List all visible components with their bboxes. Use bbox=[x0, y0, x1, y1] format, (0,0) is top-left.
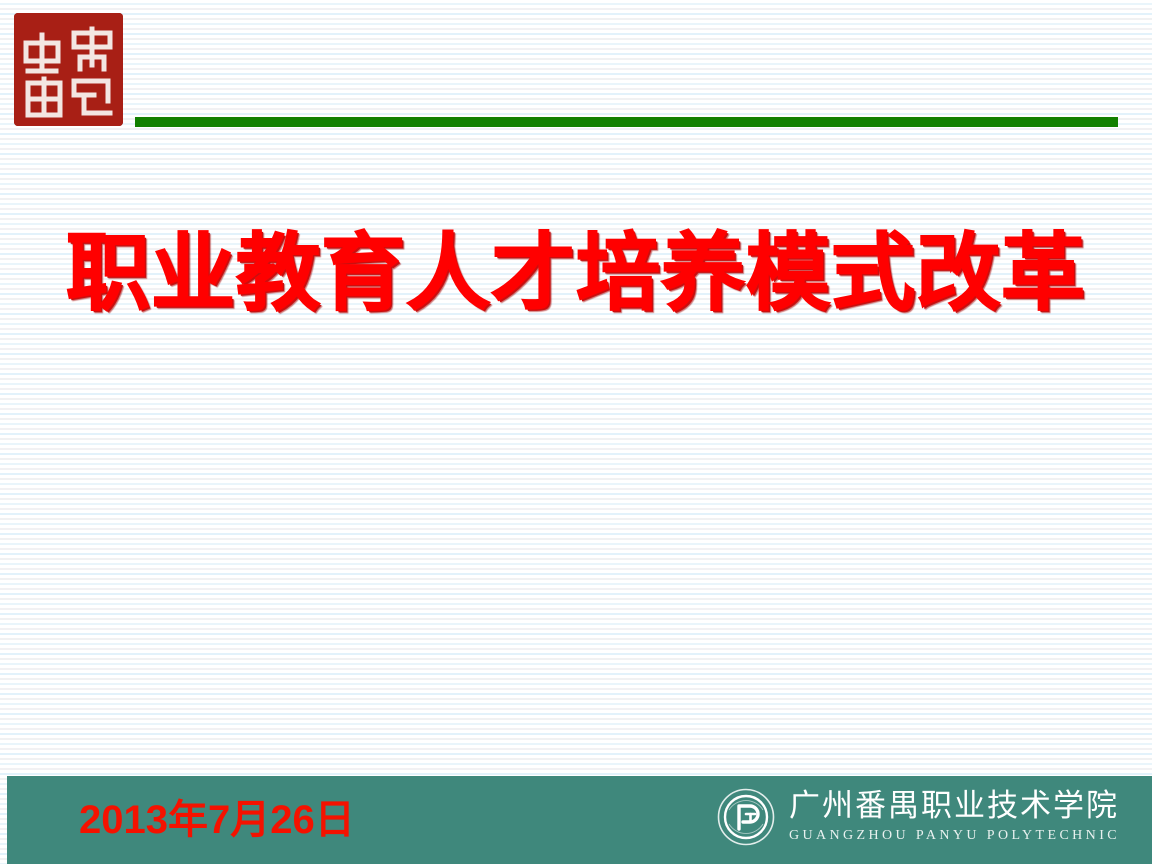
green-divider-rule bbox=[135, 117, 1118, 127]
footer-bar: 2013年7月26日 广州番禺职业技术学院 GUANGZHOU PANYU bbox=[7, 776, 1152, 864]
slide-title: 职业教育人才培养模式改革 bbox=[66, 228, 1086, 319]
university-name-cn: 广州番禺职业技术学院 bbox=[789, 791, 1120, 822]
university-name-en: GUANGZHOU PANYU POLYTECHNIC bbox=[789, 829, 1120, 843]
footer-date: 2013年7月26日 bbox=[79, 794, 355, 846]
presentation-slide: 职业教育人才培养模式改革 2013年7月26日 广州番禺职业技 bbox=[0, 0, 1152, 864]
university-name-block: 广州番禺职业技术学院 GUANGZHOU PANYU POLYTECHNIC bbox=[789, 791, 1120, 843]
chinese-seal-icon bbox=[14, 13, 123, 126]
university-logo: 广州番禺职业技术学院 GUANGZHOU PANYU POLYTECHNIC bbox=[717, 788, 1120, 846]
title-block: 职业教育人才培养模式改革 bbox=[0, 228, 1152, 319]
panyu-polytechnic-emblem-icon bbox=[717, 788, 775, 846]
seal-engraving bbox=[14, 13, 123, 126]
